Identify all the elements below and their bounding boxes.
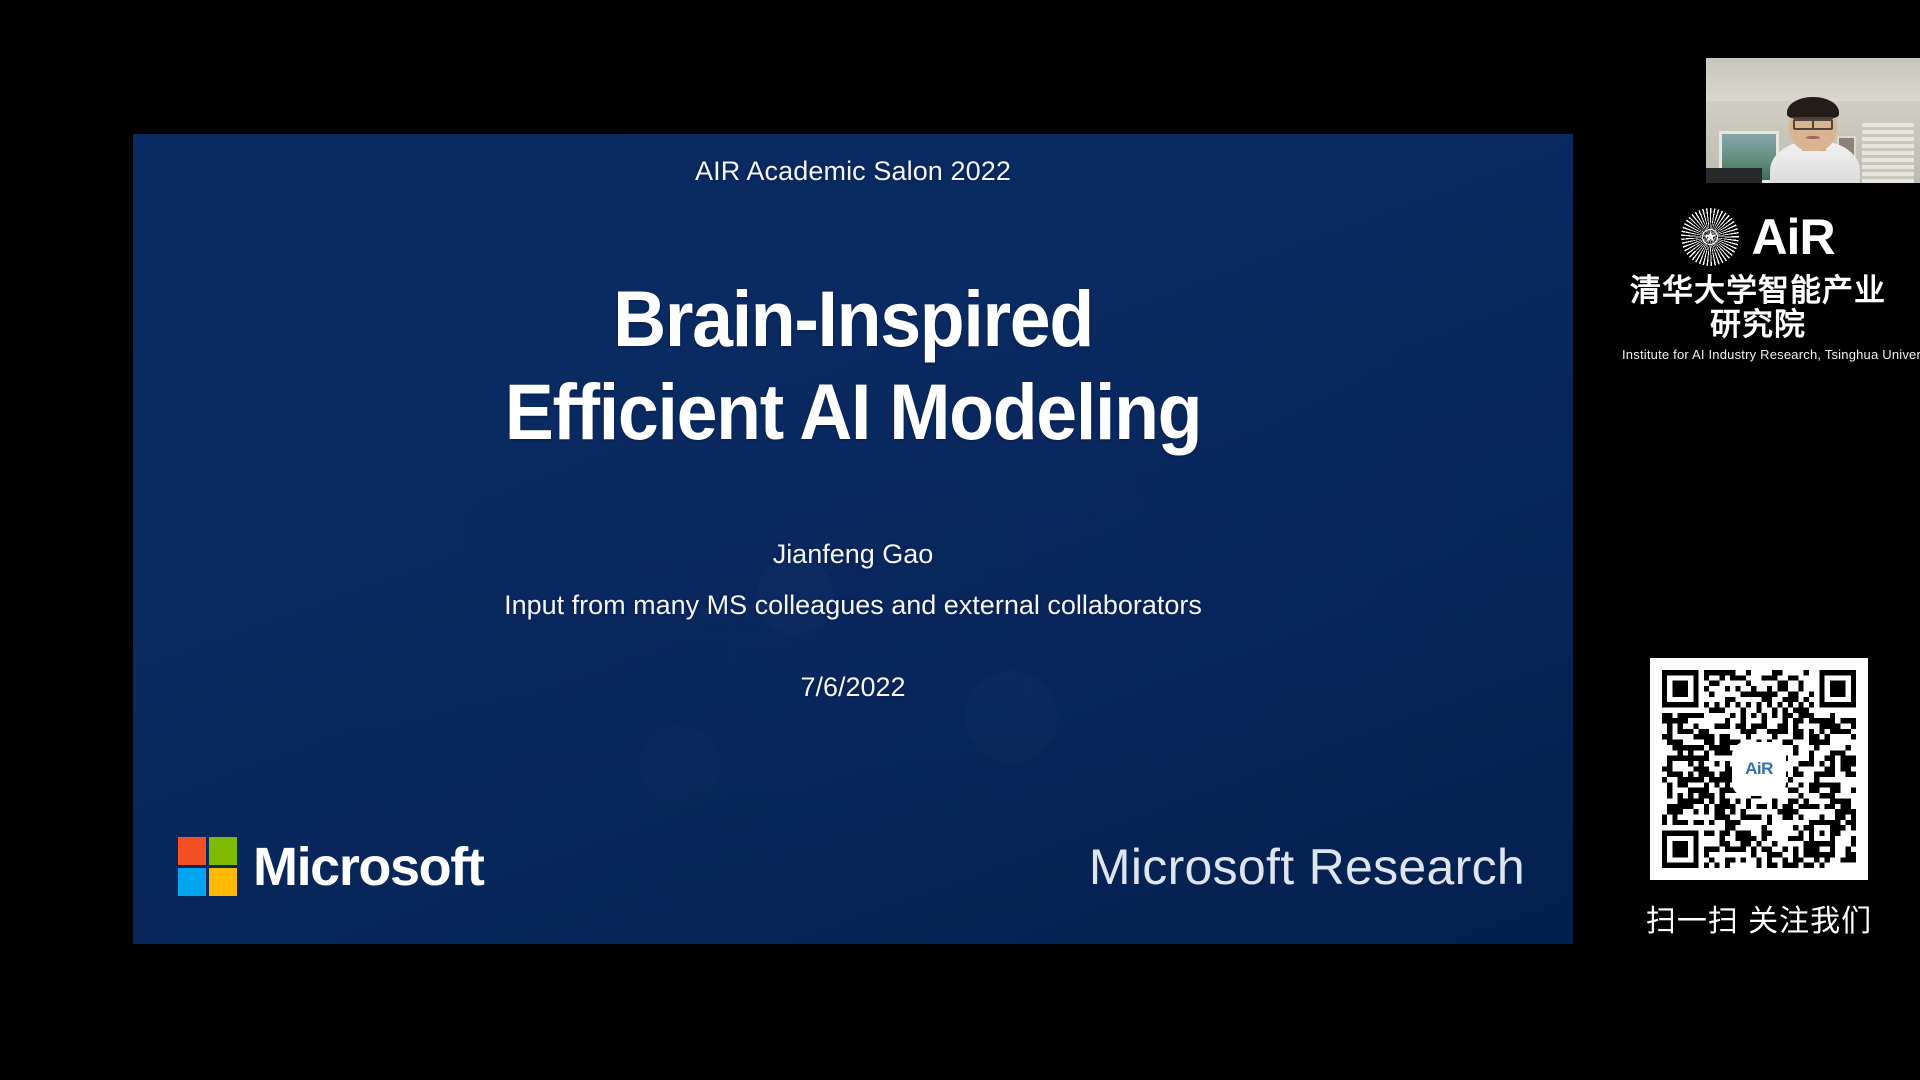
screen-root: AIR Academic Salon 2022 Brain-Inspired E… [0, 0, 1920, 1080]
webcam-blinds [1862, 123, 1913, 183]
microsoft-square-yellow [209, 868, 237, 896]
microsoft-logo: Microsoft [178, 837, 483, 896]
tsinghua-seal-icon [1681, 208, 1739, 266]
microsoft-squares-icon [178, 837, 237, 896]
presentation-slide[interactable]: AIR Academic Salon 2022 Brain-Inspired E… [133, 134, 1573, 944]
slide-author: Jianfeng Gao [133, 539, 1573, 570]
slide-credit: Input from many MS colleagues and extern… [133, 590, 1573, 621]
slide-byline: Jianfeng Gao Input from many MS colleagu… [133, 539, 1573, 621]
webcam-ceiling [1706, 58, 1920, 101]
microsoft-wordmark: Microsoft [253, 840, 483, 894]
slide-title-line-1: Brain-Inspired [183, 279, 1522, 358]
air-chinese-name: 清华大学智能产业研究院 [1622, 274, 1894, 342]
air-wordmark: AiR [1751, 212, 1834, 262]
presenter-webcam-video[interactable] [1706, 58, 1920, 183]
microsoft-square-green [209, 837, 237, 865]
slide-content: AIR Academic Salon 2022 Brain-Inspired E… [133, 134, 1573, 944]
microsoft-research-wordmark: Microsoft Research [1089, 842, 1525, 892]
air-logo-mark-row: AiR [1622, 206, 1894, 268]
slide-date: 7/6/2022 [133, 672, 1573, 703]
wechat-qr-code[interactable]: AiR [1650, 658, 1868, 880]
webcam-desk [1706, 168, 1762, 183]
qr-center-logo: AiR [1732, 742, 1786, 796]
air-english-name: Institute for AI Industry Research, Tsin… [1622, 347, 1894, 362]
microsoft-square-red [178, 837, 206, 865]
slide-eyebrow: AIR Academic Salon 2022 [133, 156, 1573, 187]
air-institute-logo: AiR 清华大学智能产业研究院 Institute for AI Industr… [1622, 206, 1894, 362]
qr-caption: 扫一扫 关注我们 [1622, 896, 1896, 940]
glasses-icon [1793, 117, 1834, 126]
microsoft-square-blue [178, 868, 206, 896]
slide-title: Brain-Inspired Efficient AI Modeling [133, 279, 1573, 451]
slide-title-line-2: Efficient AI Modeling [183, 372, 1522, 451]
